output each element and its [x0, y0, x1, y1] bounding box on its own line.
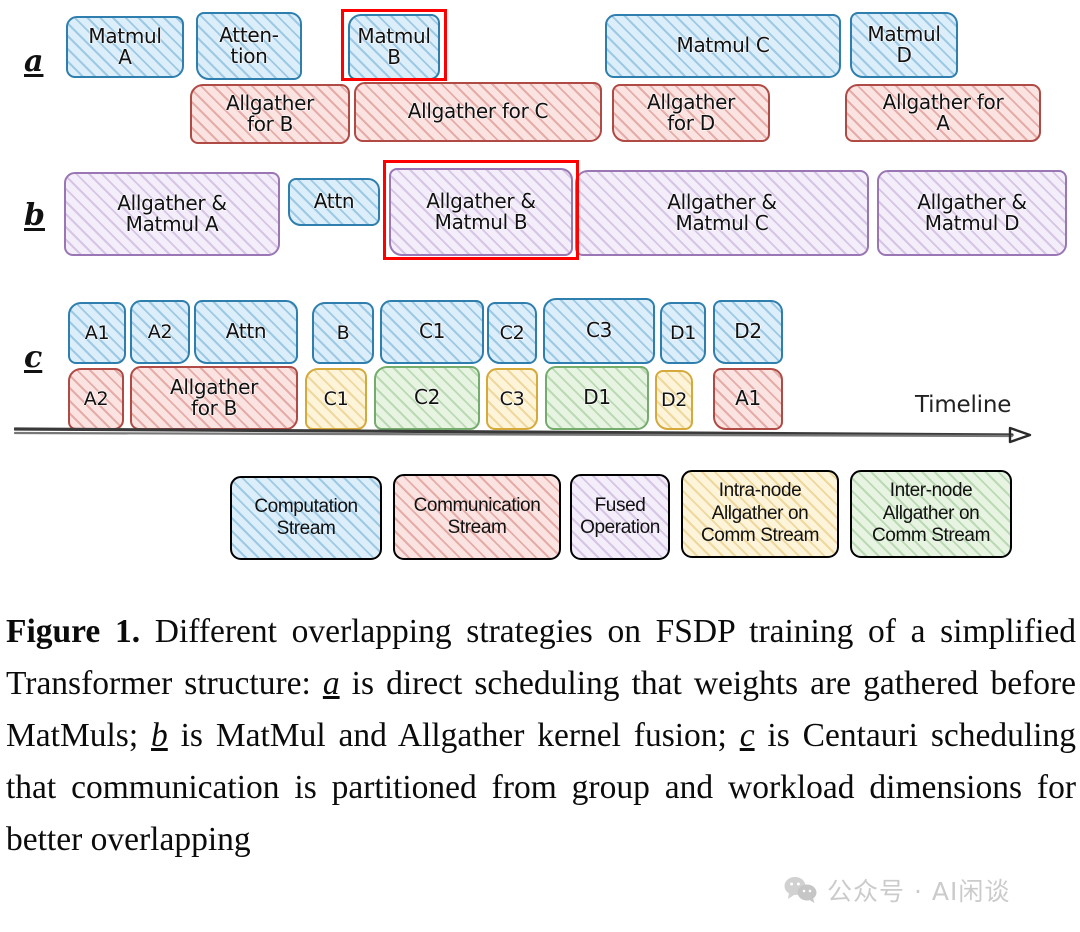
timeline-box-label: B — [337, 323, 350, 343]
timeline-box-a-compute-0: Matmul A — [66, 16, 184, 78]
row-label-b: b — [24, 198, 45, 233]
legend-item-blue: Computation Stream — [230, 476, 382, 560]
legend: Computation StreamCommunication StreamFu… — [0, 466, 1080, 570]
timeline-box-label: Allgather & Matmul D — [917, 192, 1026, 234]
timeline-box-b-fused-1: Allgather & Matmul B — [389, 168, 573, 256]
timeline-box-label: Attn — [314, 191, 355, 212]
timeline-box-c-comm-red-1: Allgather for B — [130, 366, 298, 430]
timeline-box-a-communication-2: Allgather for D — [612, 84, 770, 142]
legend-item-label: Inter-node Allgather on Comm Stream — [872, 480, 990, 547]
watermark: 公众号 · AI闲谈 — [784, 872, 1010, 908]
timeline-box-c-compute-7: D1 — [660, 302, 706, 364]
caption-ref-c: c — [740, 717, 755, 754]
timeline-box-label: D2 — [661, 390, 687, 410]
timeline-box-label: Matmul C — [677, 35, 770, 56]
row-label-c: c — [24, 340, 42, 375]
timeline-box-label: D2 — [734, 321, 762, 342]
timeline-box-c-compute-6: C3 — [543, 298, 655, 364]
wechat-icon — [784, 876, 818, 904]
timeline-box-label: A2 — [148, 322, 173, 342]
legend-item-red: Communication Stream — [393, 474, 561, 560]
timeline-box-label: A1 — [85, 323, 110, 343]
watermark-text: 公众号 · AI闲谈 — [827, 872, 1010, 908]
timeline-box-b-fused-3: Allgather & Matmul D — [877, 170, 1067, 256]
timeline-label: Timeline — [915, 392, 1011, 418]
timeline-box-b-fused-2: Allgather & Matmul C — [575, 170, 869, 256]
timeline-box-c-compute-8: D2 — [713, 300, 783, 364]
timeline-box-c-comm-red-0: A2 — [68, 368, 124, 430]
timeline-box-label: Matmul A — [88, 26, 161, 68]
caption-ref-a: a — [323, 665, 340, 702]
timeline-box-label: Allgather for C — [408, 101, 548, 122]
timeline-box-label: Matmul D — [867, 24, 940, 66]
timeline-box-label: C3 — [500, 389, 525, 409]
caption-text-3: is MatMul and Allgather kernel fusion; — [168, 717, 740, 754]
legend-item-label: Intra-node Allgather on Comm Stream — [701, 480, 819, 547]
figure-caption: Figure 1. Different overlapping strategi… — [6, 606, 1076, 866]
timeline-box-c-comm-intra-0: C1 — [305, 368, 367, 430]
timeline-box-label: Allgather & Matmul C — [667, 192, 776, 234]
timeline-box-c-comm-inter-1: D1 — [545, 366, 649, 430]
timeline-box-c-compute-1: A2 — [130, 300, 190, 364]
legend-item-label: Fused Operation — [580, 495, 660, 540]
timeline-box-label: C1 — [324, 389, 349, 409]
timeline-box-label: C3 — [586, 320, 612, 341]
timeline-box-a-compute-2: Matmul B — [348, 14, 440, 80]
timeline-box-label: D1 — [583, 387, 611, 408]
legend-item-yellow: Intra-node Allgather on Comm Stream — [681, 470, 839, 558]
timeline-box-label: C2 — [500, 323, 525, 343]
timeline-box-label: Attn — [226, 321, 267, 342]
timeline-box-a-compute-1: Atten- tion — [196, 12, 302, 80]
timeline-box-c-compute-2: Attn — [194, 300, 298, 364]
timeline-box-a-compute-right-1: Matmul D — [850, 12, 958, 78]
timeline-box-c-compute-3: B — [312, 302, 374, 364]
timeline-box-c-comm-red-2: A1 — [713, 368, 783, 430]
timeline-box-label: A1 — [735, 388, 761, 409]
timeline-box-label: D1 — [670, 323, 696, 343]
timeline-box-a-communication-1: Allgather for C — [354, 82, 602, 142]
timeline-box-c-comm-intra-2: D2 — [655, 370, 693, 430]
row-label-a: a — [24, 44, 43, 79]
legend-item-green: Inter-node Allgather on Comm Stream — [850, 470, 1012, 558]
timeline-box-b-attention-0: Attn — [288, 178, 380, 226]
timeline-box-label: Allgather for B — [226, 93, 314, 135]
timeline-box-c-compute-4: C1 — [380, 300, 484, 364]
timeline-box-a-communication-0: Allgather for B — [190, 84, 350, 144]
timeline-box-c-comm-intra-1: C3 — [486, 368, 538, 430]
timeline-box-label: Allgather for A — [883, 92, 1004, 134]
timeline-box-label: A2 — [84, 389, 109, 409]
timeline-box-c-compute-5: C2 — [487, 302, 537, 364]
caption-figure-number: Figure 1. — [6, 613, 140, 650]
timeline-box-a-compute-right-0: Matmul C — [605, 14, 841, 78]
timeline-box-b-fused-0: Allgather & Matmul A — [64, 172, 280, 256]
timeline-arrow-icon — [14, 424, 1036, 446]
timeline-box-label: Allgather & Matmul B — [426, 191, 535, 233]
timeline-box-a-communication-3: Allgather for A — [845, 84, 1041, 142]
timeline-box-label: Matmul B — [357, 26, 430, 68]
timeline-box-label: Atten- tion — [219, 25, 278, 67]
legend-item-label: Computation Stream — [254, 496, 357, 541]
legend-item-label: Communication Stream — [414, 495, 541, 540]
timeline-box-label: Allgather & Matmul A — [117, 193, 226, 235]
timeline-box-c-compute-0: A1 — [68, 302, 126, 364]
timeline-box-c-comm-inter-0: C2 — [374, 366, 480, 430]
timeline-box-label: Allgather for D — [647, 92, 735, 134]
legend-item-purple: Fused Operation — [570, 474, 670, 560]
timeline-box-label: C2 — [414, 387, 440, 408]
timeline-box-label: C1 — [419, 321, 445, 342]
caption-ref-b: b — [151, 717, 168, 754]
timeline-box-label: Allgather for B — [170, 377, 258, 419]
figure-diagram: a b c Matmul AAtten- tionMatmul BMatmul … — [0, 0, 1080, 600]
